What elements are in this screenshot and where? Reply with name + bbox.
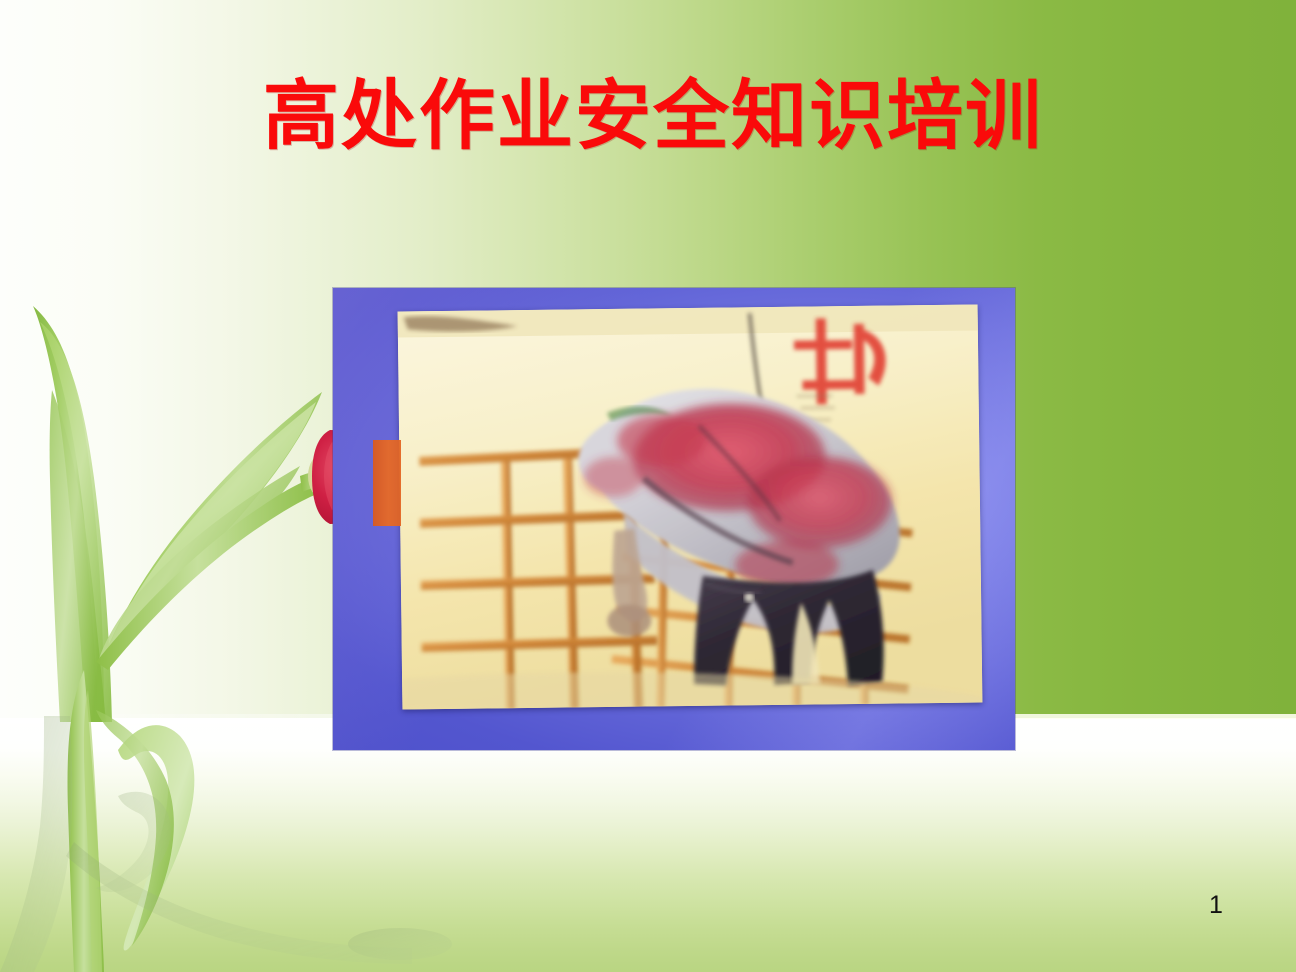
slide-canvas: 高处作业安全知识培训 bbox=[0, 0, 1296, 972]
orange-accent-bar bbox=[373, 440, 401, 526]
background-lower-table bbox=[0, 718, 1296, 972]
accident-photo bbox=[398, 304, 983, 709]
page-title: 高处作业安全知识培训 bbox=[0, 68, 1296, 164]
slide-number: 1 bbox=[1196, 890, 1236, 920]
picture-frame bbox=[333, 288, 1015, 750]
